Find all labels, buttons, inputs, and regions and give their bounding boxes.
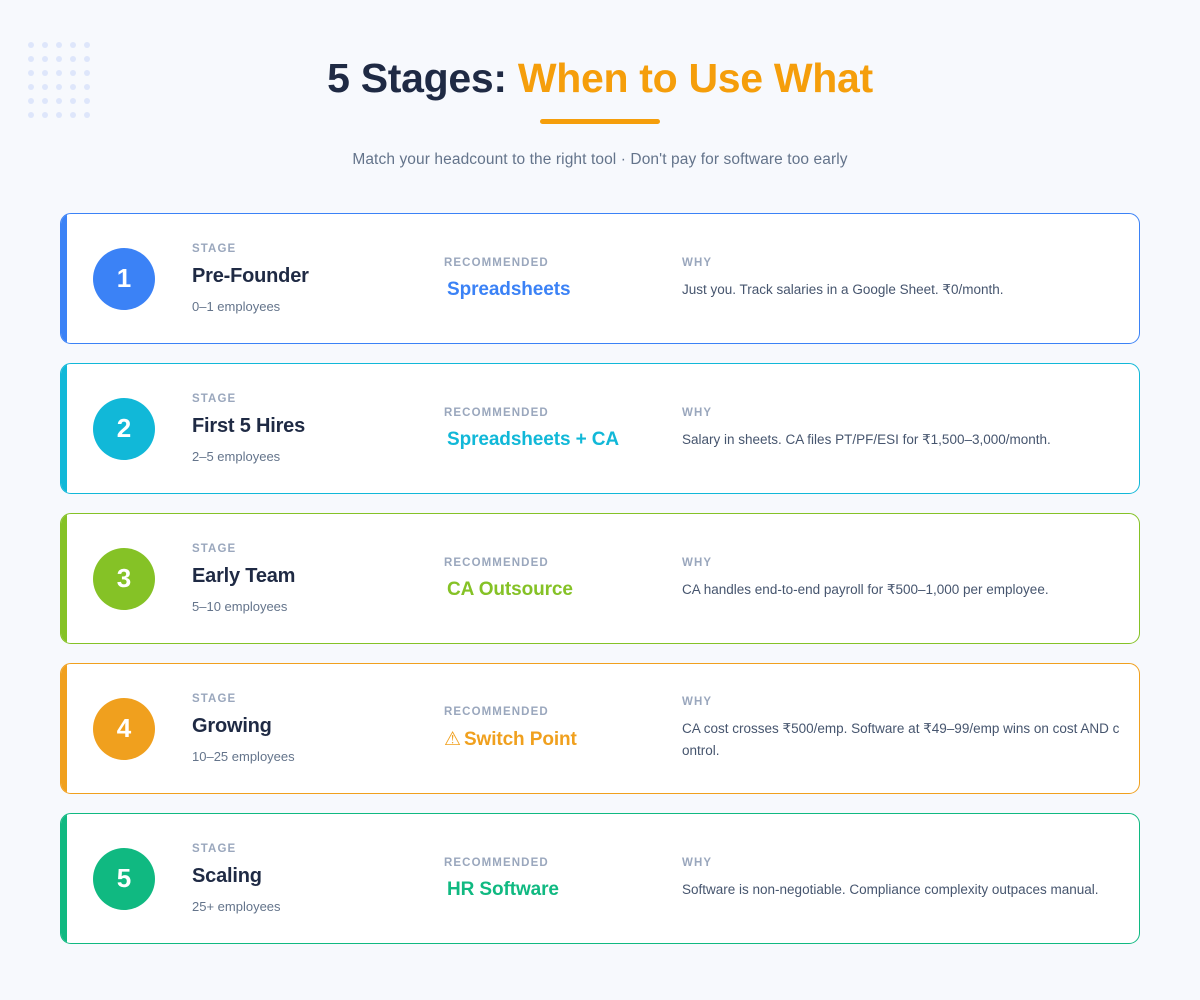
why-column: WHYSalary in sheets. CA files PT/PF/ESI …	[682, 407, 1126, 451]
page-title-accent: When to Use What	[518, 55, 873, 101]
recommended-column: RECOMMENDEDHR Software	[444, 857, 682, 901]
stage-number-badge: 3	[93, 548, 155, 610]
page-subtitle: Match your headcount to the right tool ·…	[0, 151, 1200, 169]
stage-column-label: STAGE	[192, 543, 444, 555]
stage-name: Scaling	[192, 865, 444, 888]
dot	[28, 70, 34, 76]
stage-number-badge: 5	[93, 848, 155, 910]
recommended-column-label: RECOMMENDED	[444, 257, 682, 269]
recommended-column: RECOMMENDEDSpreadsheets	[444, 257, 682, 301]
recommended-column: RECOMMENDEDCA Outsource	[444, 557, 682, 601]
why-column: WHYJust you. Track salaries in a Google …	[682, 257, 1126, 301]
dot	[84, 56, 90, 62]
dot	[70, 84, 76, 90]
page-title-dark: 5 Stages:	[327, 55, 507, 101]
why-column: WHYSoftware is non-negotiable. Complianc…	[682, 857, 1126, 901]
dot	[28, 112, 34, 118]
stage-card[interactable]: 4STAGEGrowing10–25 employeesRECOMMENDED⚠…	[60, 663, 1140, 794]
dot	[84, 84, 90, 90]
page-title: 5 Stages: When to Use What	[0, 55, 1200, 102]
stage-card[interactable]: 3STAGEEarly Team5–10 employeesRECOMMENDE…	[60, 513, 1140, 644]
why-text: Software is non-negotiable. Compliance c…	[682, 879, 1126, 901]
recommended-label-text: Spreadsheets	[447, 279, 570, 300]
stage-column-label: STAGE	[192, 693, 444, 705]
dot	[84, 98, 90, 104]
stage-employee-count: 10–25 employees	[192, 749, 444, 764]
stage-card-list: 1STAGEPre-Founder0–1 employeesRECOMMENDE…	[60, 213, 1140, 944]
recommended-value: ⚠Switch Point	[444, 728, 682, 751]
dot	[42, 98, 48, 104]
dot	[28, 42, 34, 48]
recommended-value: Spreadsheets + CA	[444, 429, 682, 451]
stage-column-label: STAGE	[192, 393, 444, 405]
decorative-dot-grid	[28, 42, 98, 126]
dot	[70, 98, 76, 104]
dot	[56, 98, 62, 104]
stage-employee-count: 0–1 employees	[192, 299, 444, 314]
recommended-label-text: CA Outsource	[447, 579, 573, 600]
why-column-label: WHY	[682, 696, 1126, 708]
why-text: CA cost crosses ₹500/emp. Software at ₹4…	[682, 718, 1126, 762]
recommended-column: RECOMMENDED⚠Switch Point	[444, 706, 682, 751]
recommended-column-label: RECOMMENDED	[444, 407, 682, 419]
why-text: Salary in sheets. CA files PT/PF/ESI for…	[682, 429, 1126, 451]
recommended-value: CA Outsource	[444, 579, 682, 601]
dot	[56, 56, 62, 62]
why-column: WHYCA handles end-to-end payroll for ₹50…	[682, 557, 1126, 601]
dot	[56, 42, 62, 48]
dot	[42, 84, 48, 90]
page-header: 5 Stages: When to Use What Match your he…	[0, 0, 1200, 169]
dot	[42, 42, 48, 48]
stage-name: Growing	[192, 715, 444, 738]
infographic-page: 5 Stages: When to Use What Match your he…	[0, 0, 1200, 1000]
dot	[56, 70, 62, 76]
dot	[28, 84, 34, 90]
stage-number-badge: 1	[93, 248, 155, 310]
title-underline	[540, 119, 660, 124]
stage-card[interactable]: 5STAGEScaling25+ employeesRECOMMENDEDHR …	[60, 813, 1140, 944]
dot	[70, 70, 76, 76]
stage-column: STAGEScaling25+ employees	[192, 843, 444, 914]
stage-employee-count: 5–10 employees	[192, 599, 444, 614]
recommended-column-label: RECOMMENDED	[444, 857, 682, 869]
dot	[42, 112, 48, 118]
dot	[56, 84, 62, 90]
stage-column: STAGEEarly Team5–10 employees	[192, 543, 444, 614]
why-column: WHYCA cost crosses ₹500/emp. Software at…	[682, 696, 1126, 762]
recommended-column: RECOMMENDEDSpreadsheets + CA	[444, 407, 682, 451]
recommended-value: HR Software	[444, 879, 682, 901]
why-column-label: WHY	[682, 407, 1126, 419]
why-column-label: WHY	[682, 857, 1126, 869]
dot	[70, 56, 76, 62]
dot	[84, 112, 90, 118]
stage-column: STAGEFirst 5 Hires2–5 employees	[192, 393, 444, 464]
stage-column-label: STAGE	[192, 243, 444, 255]
stage-name: Pre-Founder	[192, 265, 444, 288]
dot	[56, 112, 62, 118]
stage-column-label: STAGE	[192, 843, 444, 855]
stage-number-badge: 2	[93, 398, 155, 460]
stage-employee-count: 2–5 employees	[192, 449, 444, 464]
stage-name: First 5 Hires	[192, 415, 444, 438]
recommended-label-text: Spreadsheets + CA	[447, 429, 619, 450]
stage-number-badge: 4	[93, 698, 155, 760]
dot	[42, 70, 48, 76]
why-column-label: WHY	[682, 257, 1126, 269]
stage-card[interactable]: 2STAGEFirst 5 Hires2–5 employeesRECOMMEN…	[60, 363, 1140, 494]
dot	[70, 112, 76, 118]
stage-column: STAGEPre-Founder0–1 employees	[192, 243, 444, 314]
stage-card[interactable]: 1STAGEPre-Founder0–1 employeesRECOMMENDE…	[60, 213, 1140, 344]
dot	[84, 70, 90, 76]
why-text: CA handles end-to-end payroll for ₹500–1…	[682, 579, 1126, 601]
recommended-label-text: Switch Point	[464, 729, 577, 750]
stage-column: STAGEGrowing10–25 employees	[192, 693, 444, 764]
dot	[42, 56, 48, 62]
why-text: Just you. Track salaries in a Google She…	[682, 279, 1126, 301]
dot	[28, 98, 34, 104]
dot	[84, 42, 90, 48]
dot	[28, 56, 34, 62]
recommended-column-label: RECOMMENDED	[444, 557, 682, 569]
recommended-value: Spreadsheets	[444, 279, 682, 301]
stage-employee-count: 25+ employees	[192, 899, 444, 914]
recommended-column-label: RECOMMENDED	[444, 706, 682, 718]
why-column-label: WHY	[682, 557, 1126, 569]
recommended-label-text: HR Software	[447, 879, 559, 900]
stage-name: Early Team	[192, 565, 444, 588]
warning-icon: ⚠	[444, 729, 461, 750]
dot	[70, 42, 76, 48]
